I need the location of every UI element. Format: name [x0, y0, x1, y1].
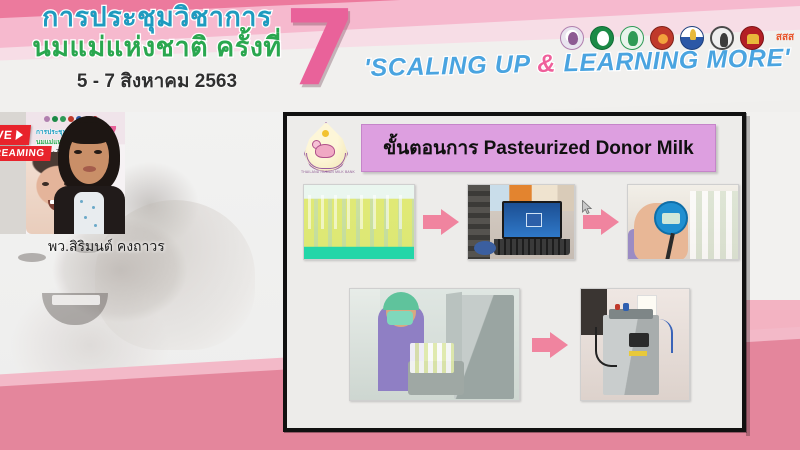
blouse-dot-2 [92, 206, 95, 209]
blouse-dot-1 [80, 200, 83, 203]
edition-number-seven: 7 [284, 0, 356, 100]
sponsor-logo-strip: สสส [560, 26, 800, 50]
ministry-public-health-logo [590, 26, 614, 50]
slide-title-box: ขั้นตอนการ Pasteurized Donor Milk [361, 124, 716, 172]
conference-title-line1: การประชุมวิชาการ [22, 4, 292, 31]
live-badge: LIVE [0, 125, 31, 145]
speaker-eye-left [74, 150, 82, 154]
background-eye-left [18, 253, 46, 262]
human-milk-bank-logo: THAILAND HUMAN MILK BANK [295, 120, 357, 180]
speaker-fringe [65, 122, 113, 144]
process-flow-row-2 [349, 288, 690, 401]
machine-blue-switch [623, 303, 629, 311]
right-arrow-icon [423, 209, 459, 235]
speaker-blouse [74, 192, 104, 234]
speaker-name-label: พว.สิริมนต์ คงถาวร [48, 236, 165, 258]
background-teeth [52, 295, 100, 305]
panel-drop-shadow [746, 116, 750, 436]
thermometer-device [654, 201, 688, 235]
machine-control-display [629, 333, 649, 347]
royal-crest-logo [740, 26, 764, 50]
slide-title-text: ขั้นตอนการ Pasteurized Donor Milk [383, 133, 693, 163]
photo-laptop-workstation [467, 184, 575, 260]
child-eye-left [42, 182, 49, 186]
slide-canvas: การประชุมวิชาการ นมแม่แห่งชาติ ครั้งที่ … [0, 0, 800, 450]
laptop-keyboard [494, 239, 570, 255]
machine-water-hose [659, 319, 673, 353]
process-flow-row-1 [303, 184, 739, 260]
conference-dates: 5 - 7 สิงหาคม 2563 [22, 66, 292, 96]
nurse-face-mask [387, 311, 413, 325]
nursing-council-logo [710, 26, 734, 50]
slide-panel: THAILAND HUMAN MILK BANK ขั้นตอนการ Past… [283, 112, 746, 432]
conference-title-block: การประชุมวิชาการ นมแม่แห่งชาติ ครั้งที่ … [22, 4, 292, 96]
photo-pasteurizer-machine [580, 288, 690, 401]
royal-patronage-logo [560, 26, 584, 50]
tagline-ampersand: & [537, 50, 556, 78]
laptop-mouse [474, 241, 496, 255]
thai-breastfeeding-center-logo [620, 26, 644, 50]
poster-mini-logo-1 [44, 116, 50, 122]
thaihealth-sss-logo: สสส [770, 26, 800, 50]
video-speaker-figure [52, 114, 125, 234]
machine-label-sticker [629, 351, 647, 356]
photo-thermometer-check [627, 184, 739, 260]
machine-power-cord [595, 327, 617, 367]
live-badge-label: LIVE [0, 128, 13, 142]
thermometer-display [662, 213, 680, 224]
blouse-dot-4 [94, 224, 97, 227]
streaming-badge: STREAMING [0, 146, 51, 161]
thermometer-bottles [690, 191, 739, 260]
royal-college-logo [650, 26, 674, 50]
tagline-prefix: 'SCALING UP [364, 50, 538, 82]
lab-background [350, 289, 380, 401]
photo-nurse-loading-pasteurizer [349, 288, 520, 401]
right-arrow-icon [532, 332, 568, 358]
photo-milk-bottles-rack [303, 184, 415, 260]
blouse-dot-3 [84, 216, 87, 219]
machine-red-switch [615, 304, 620, 310]
play-triangle-icon [16, 130, 24, 140]
milk-bottles-in-tray [410, 343, 454, 373]
speaker-lips [83, 166, 96, 172]
laptop-screen-icon [526, 213, 542, 227]
milk-drop-highlight [322, 130, 329, 137]
live-stream-video[interactable]: การประชุมวิชาการ นมแม่แห่งชาติ ครั้งที่ … [0, 112, 125, 234]
speaker-eye-right [94, 150, 102, 154]
national-emblem-logo [680, 26, 704, 50]
process-flow [287, 180, 742, 430]
laptop-screen [502, 201, 562, 239]
conference-title-line2: นมแม่แห่งชาติ ครั้งที่ [22, 34, 292, 61]
nurse-surgical-cap [383, 292, 419, 310]
mouse-pointer [582, 200, 592, 214]
machine-top-panel [609, 309, 653, 319]
logo-caption: THAILAND HUMAN MILK BANK [299, 170, 357, 174]
